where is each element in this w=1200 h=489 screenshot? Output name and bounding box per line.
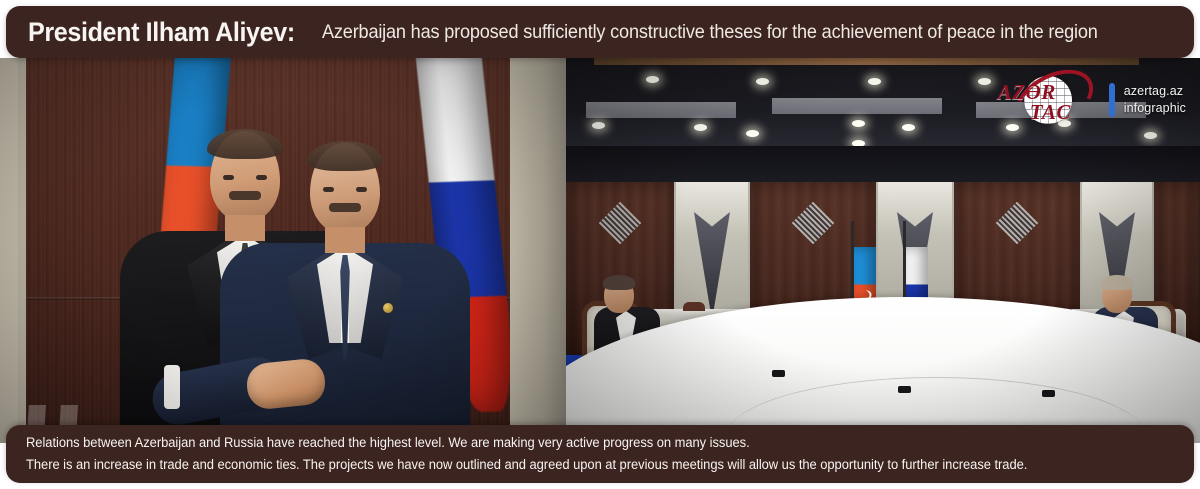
caption-text: Relations between Azerbaijan and Russia … (26, 432, 1027, 476)
microphone (898, 386, 911, 393)
caption-line-2: There is an increase in trade and econom… (26, 454, 1027, 476)
headline-quote: Azerbaijan has proposed sufficiently con… (322, 21, 1098, 44)
hair (603, 275, 635, 290)
logo-accent-bar (1109, 83, 1115, 117)
logo-kind-label: infographic (1124, 100, 1186, 117)
handshake-photo (0, 58, 566, 443)
infographic-root: AZƏR TAC azertag.az infographic Presiden… (0, 0, 1200, 489)
microphone (772, 370, 785, 377)
ceiling-spotlight (852, 120, 865, 127)
logo-caption: azertag.az infographic (1124, 83, 1186, 117)
diamond-medallion (792, 202, 834, 244)
header-bar: President Ilham Aliyev: Azerbaijan has p… (6, 6, 1194, 58)
head (310, 143, 380, 233)
shirt-cuff (164, 365, 180, 409)
ceiling-spotlight (868, 78, 881, 85)
speaker-name: President Ilham Aliyev: (28, 17, 295, 48)
ceiling-spotlight (756, 78, 769, 85)
hair (1101, 275, 1133, 290)
ceiling-spotlight (592, 122, 605, 129)
wall-dark-band (566, 146, 1200, 182)
microphone (1042, 390, 1055, 397)
ceiling-slab (586, 102, 736, 118)
wall-column (510, 58, 566, 443)
logo-tac-text: TAC (1030, 100, 1071, 125)
ceiling-spotlight (1144, 132, 1157, 139)
azertac-logo-block: AZƏR TAC azertag.az infographic (996, 74, 1186, 126)
caption-bar: Relations between Azerbaijan and Russia … (6, 425, 1194, 483)
chevron-ornament (694, 212, 730, 316)
ceiling-spotlight (902, 124, 915, 131)
ceiling-spotlight (746, 130, 759, 137)
logo-site-url: azertag.az (1124, 83, 1186, 100)
ceiling-slab (772, 98, 942, 114)
ceiling-trim (594, 58, 1139, 65)
ceiling-spotlight (694, 124, 707, 131)
diamond-medallion (599, 202, 641, 244)
diamond-medallion (996, 202, 1038, 244)
ceiling-spotlight (978, 78, 991, 85)
azertac-logo-icon: AZƏR TAC (996, 74, 1100, 126)
caption-line-1: Relations between Azerbaijan and Russia … (26, 432, 1027, 454)
ceiling-spotlight (646, 76, 659, 83)
lapel-pin (383, 303, 393, 313)
neck (325, 227, 365, 253)
eyes (323, 187, 367, 192)
